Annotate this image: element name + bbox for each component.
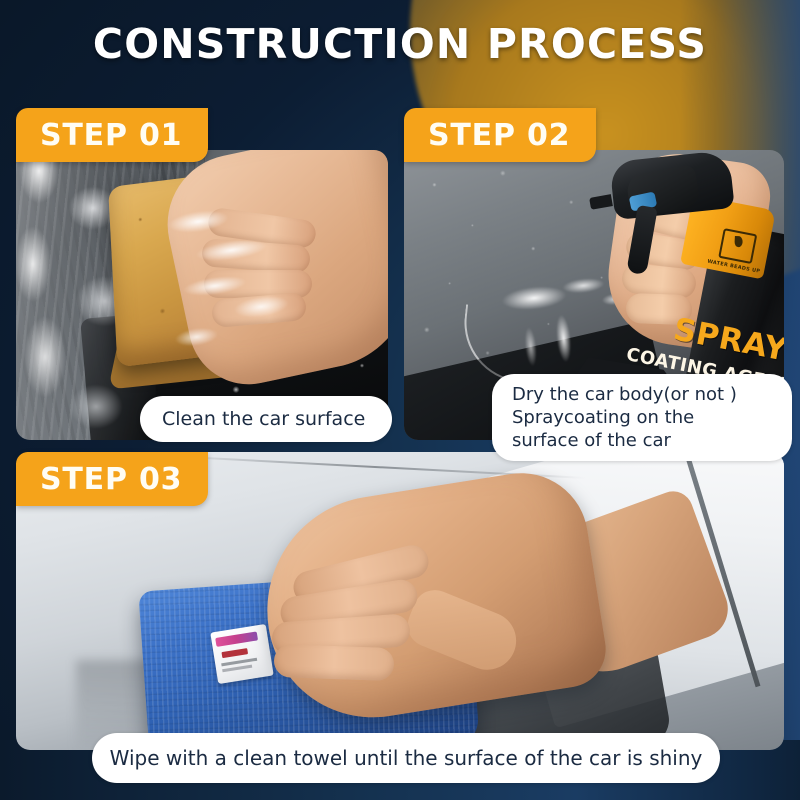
step-tab-1: STEP 01 <box>16 108 208 162</box>
page-title: CONSTRUCTION PROCESS <box>0 18 800 70</box>
step-tab-2-label: STEP 02 <box>428 118 570 153</box>
step-caption-2-line-2: Spraycoating on the <box>512 406 772 429</box>
tag-stripe-pink <box>215 631 258 646</box>
step-tab-2: STEP 02 <box>404 108 596 162</box>
water-bead-badge-icon: WATER BEADS UP <box>703 217 771 283</box>
droplet-icon <box>718 228 757 264</box>
step-tab-1-label: STEP 01 <box>40 118 182 153</box>
tag-stripe-red <box>221 648 248 658</box>
step-tab-3-label: STEP 03 <box>40 462 182 497</box>
badge-label: WATER BEADS UP <box>707 258 761 274</box>
step-caption-3-line-1: Wipe with a clean towel until the surfac… <box>110 746 703 771</box>
step-caption-2: Dry the car body(or not ) Spraycoating o… <box>492 374 792 461</box>
tag-stripe-grey-2 <box>222 665 252 673</box>
step-caption-1-line-1: Clean the car surface <box>162 407 365 432</box>
foam-on-hand <box>142 186 341 360</box>
step-caption-2-line-1: Dry the car body(or not ) <box>512 383 772 406</box>
step-caption-2-line-3: surface of the car <box>512 429 772 452</box>
step-caption-3: Wipe with a clean towel until the surfac… <box>92 733 720 783</box>
infographic-root: CONSTRUCTION PROCESS STEP 01 Clean the c… <box>0 0 800 800</box>
fingers <box>258 560 478 690</box>
step-caption-1: Clean the car surface <box>140 396 392 442</box>
step-tab-3: STEP 03 <box>16 452 208 506</box>
